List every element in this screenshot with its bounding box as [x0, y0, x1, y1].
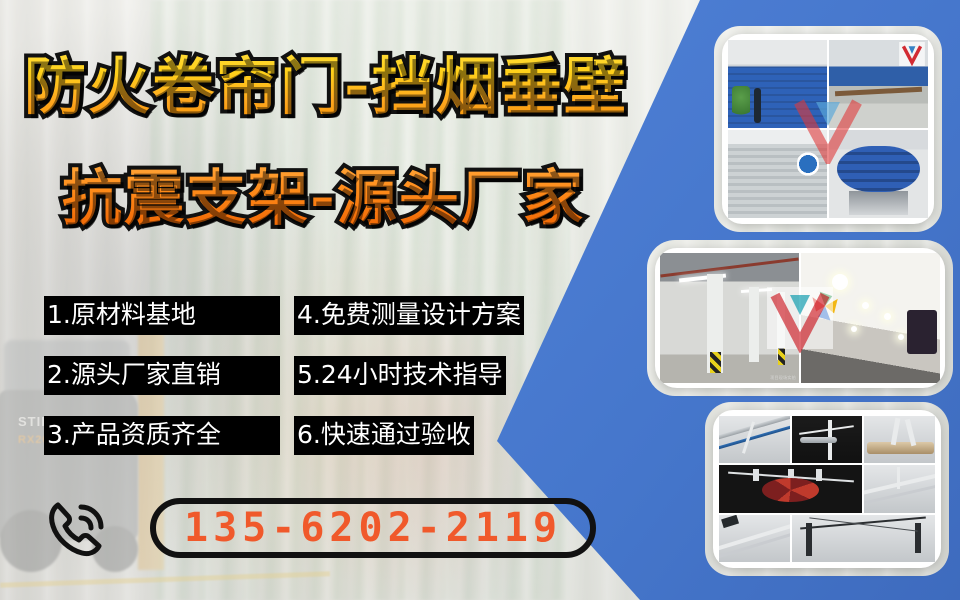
- pipe-large: [867, 442, 933, 454]
- v-logo-watermark-icon: [899, 42, 925, 66]
- pipe-run: [800, 437, 837, 443]
- phone-call-icon: [44, 495, 114, 561]
- collage-bottom-grid: [719, 416, 935, 562]
- photo-steel-frame-bracing-room: [792, 515, 935, 562]
- feature-row: 3.产品资质齐全 6.快速通过验收: [44, 416, 564, 476]
- garage-ceiling-pipe: [660, 258, 798, 278]
- promo-banner: STILL RX20 防火卷帘门-挡烟垂壁 防火卷帘门-挡烟垂: [0, 0, 960, 600]
- headline-secondary: 抗震支架-源头厂家 抗震支架-源头厂家: [62, 150, 585, 237]
- garage-hazard-marking: [778, 348, 785, 365]
- feature-item-2: 2.源头厂家直销: [44, 356, 280, 395]
- feature-item-6: 6.快速通过验收: [294, 416, 474, 455]
- feature-item-4: 4.免费测量设计方案: [294, 296, 524, 335]
- feature-item-5: 5.24小时技术指导: [294, 356, 506, 395]
- phone-number: 135-6202-2119: [184, 508, 562, 548]
- brace-channel: [799, 425, 854, 435]
- photo-ceiling-duct-bracing: [864, 465, 935, 512]
- headline-primary: 防火卷帘门-挡烟垂壁 防火卷帘门-挡烟垂壁: [24, 36, 628, 126]
- garage-column: [749, 287, 759, 362]
- ceiling-lamp: [851, 326, 857, 332]
- photo-pipe-clamp-hanger: [864, 416, 935, 463]
- contact-row: 135-6202-2119: [44, 492, 596, 564]
- collage-top-grid: [728, 40, 928, 218]
- photo-grey-rolling-shutter: [728, 130, 827, 218]
- photo-blue-rolling-shutter-door: [728, 40, 827, 128]
- steel-post: [806, 523, 812, 556]
- ceiling-dark-panel: [907, 310, 938, 354]
- headline-primary-fill: 防火卷帘门-挡烟垂壁: [24, 36, 628, 126]
- photo-ceiling-interior: [801, 253, 940, 383]
- collage-middle-grid: 项目现场实拍: [660, 253, 940, 383]
- feature-list: 1.原材料基地 4.免费测量设计方案 2.源头厂家直销 5.24小时技术指导 3…: [44, 296, 564, 476]
- photo-fan-duct-seismic-support: [719, 465, 862, 512]
- garage-hazard-marking: [710, 352, 721, 373]
- photo-lateral-brace-assembly: [792, 416, 863, 463]
- colorful-pinwheel-decoration-icon: [807, 284, 843, 328]
- feature-item-1: 1.原材料基地: [44, 296, 280, 335]
- ceiling-lamp: [884, 313, 891, 320]
- photo-seismic-bracing-pipes: [719, 416, 790, 463]
- collage-middle[interactable]: 项目现场实拍: [655, 248, 945, 388]
- ceiling-lamp: [898, 334, 904, 340]
- photo-parking-garage: 项目现场实拍: [660, 253, 799, 383]
- photo-roll-forming-machine: [829, 40, 928, 128]
- threaded-rod: [753, 469, 759, 481]
- photo-cable-tray-support: [719, 515, 790, 562]
- ceiling-lamp: [862, 302, 869, 309]
- photo-caption-watermark: 项目现场实拍: [770, 375, 796, 381]
- drop-rod: [897, 467, 901, 489]
- steel-post: [915, 523, 921, 552]
- tray-bracket: [721, 515, 738, 528]
- collage-bottom[interactable]: [713, 410, 941, 568]
- phone-number-pill[interactable]: 135-6202-2119: [150, 498, 596, 558]
- threaded-rod: [816, 469, 822, 481]
- photo-shutter-curtain-roll: [829, 130, 928, 218]
- collage-top[interactable]: [722, 34, 934, 224]
- threaded-rod: [788, 469, 794, 481]
- feature-row: 1.原材料基地 4.免费测量设计方案: [44, 296, 564, 356]
- feature-row: 2.源头厂家直销 5.24小时技术指导: [44, 356, 564, 416]
- feature-item-3: 3.产品资质齐全: [44, 416, 280, 455]
- headline-secondary-fill: 抗震支架-源头厂家: [62, 150, 585, 237]
